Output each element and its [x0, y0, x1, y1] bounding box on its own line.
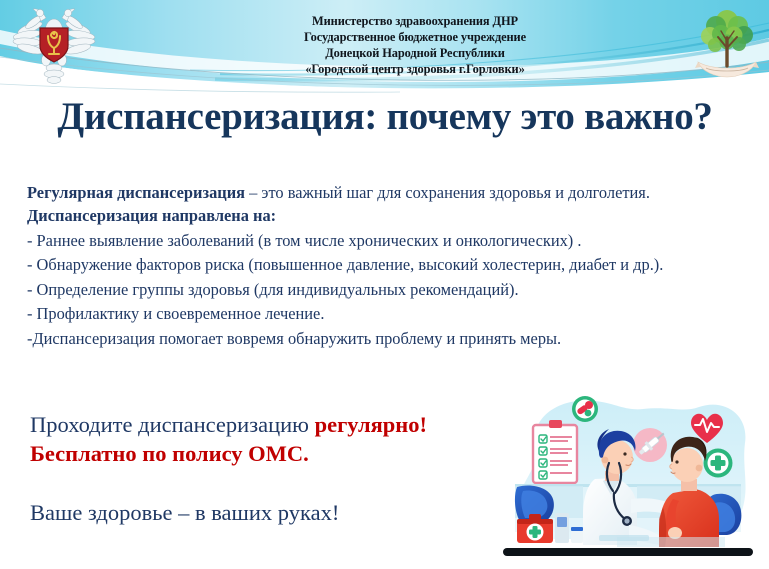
- medical-cross-circle-icon: [704, 449, 733, 478]
- cta-highlight-regularly: регулярно!: [315, 412, 427, 437]
- list-item: - Обнаружение факторов риска (повышенное…: [27, 255, 727, 275]
- syringe-circle-icon: [633, 428, 667, 462]
- body-content: Регулярная диспансеризация – это важный …: [27, 183, 727, 348]
- header-line-2: Государственное бюджетное учреждение: [250, 29, 580, 45]
- doctor-examining-patient-illustration: [487, 387, 769, 569]
- closing-slogan: Ваше здоровье – в ваших руках!: [30, 500, 339, 526]
- header-institution-text: Министерство здравоохранения ДНР Государ…: [250, 13, 580, 78]
- pills-circle-icon: [572, 396, 598, 422]
- poster-header: Министерство здравоохранения ДНР Государ…: [0, 0, 769, 96]
- illustration-artwork: [487, 387, 769, 569]
- header-line-3: Донецкой Народной Республики: [250, 45, 580, 61]
- dnr-coat-of-arms-emblem: [10, 2, 98, 88]
- call-to-action-block: Проходите диспансеризацию регулярно! Бес…: [30, 410, 500, 469]
- poster-canvas: Министерство здравоохранения ДНР Государ…: [0, 0, 769, 569]
- floor-bar: [503, 548, 753, 556]
- clipboard-checklist-icon: [533, 420, 577, 483]
- intro-paragraph: Регулярная диспансеризация – это важный …: [27, 183, 727, 202]
- list-item: - Профилактику и своевременное лечение.: [27, 304, 727, 324]
- green-tree-health-center-logo: [692, 4, 762, 86]
- page-title: Диспансеризация: почему это важно?: [40, 96, 730, 138]
- header-line-1: Министерство здравоохранения ДНР: [250, 13, 580, 29]
- header-line-4: «Городской центр здоровья г.Горловки»: [250, 61, 580, 77]
- body-subheading: Диспансеризация направлена на:: [27, 206, 727, 225]
- list-item: - Определение группы здоровья (для индив…: [27, 280, 727, 300]
- intro-rest: – это важный шаг для сохранения здоровья…: [245, 183, 650, 202]
- cta-plain-text: Проходите диспансеризацию: [30, 412, 315, 437]
- cta-line-1: Проходите диспансеризацию регулярно!: [30, 410, 500, 439]
- intro-bold-lead: Регулярная диспансеризация: [27, 183, 245, 202]
- list-item: -Диспансеризация помогает вовремя обнару…: [27, 329, 727, 349]
- list-item: - Раннее выявление заболеваний (в том чи…: [27, 231, 727, 251]
- cta-line-2-free-oms: Бесплатно по полису ОМС.: [30, 439, 500, 468]
